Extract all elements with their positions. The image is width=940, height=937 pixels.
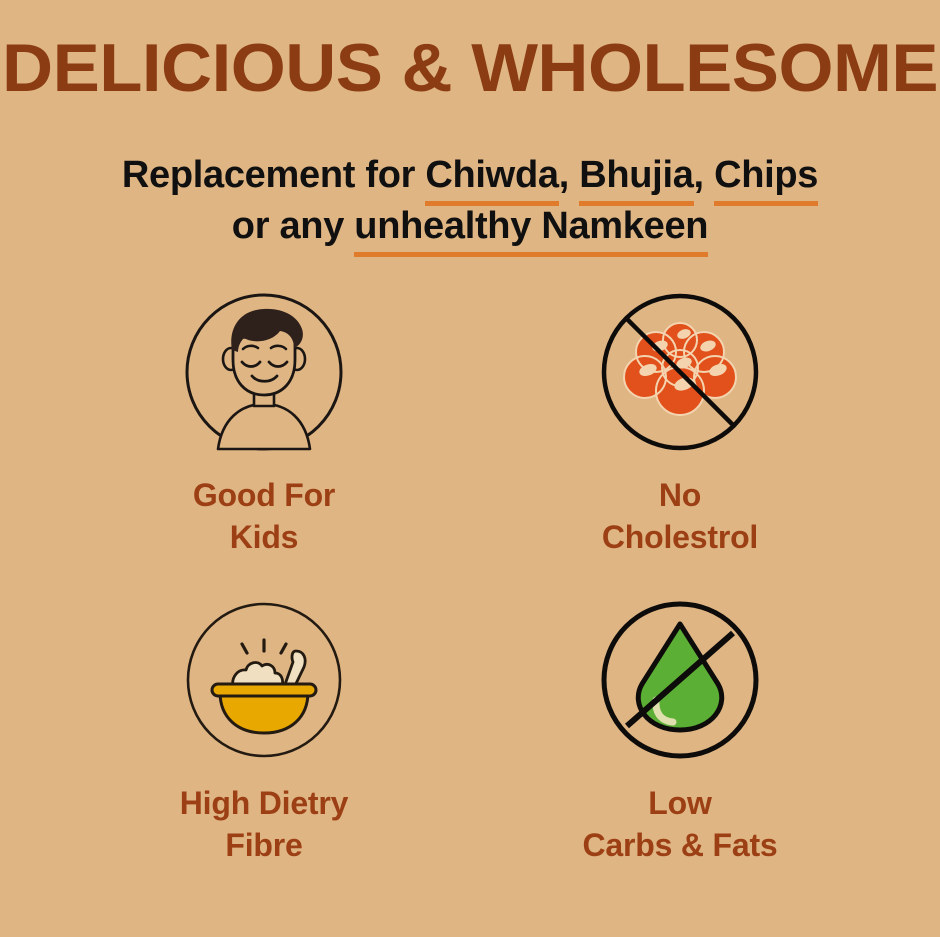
kid-face-icon bbox=[184, 292, 344, 452]
subtitle-separator-1: , bbox=[559, 154, 580, 196]
feature-label-line-1: High Dietry bbox=[180, 785, 349, 821]
subtitle-highlight-bhujia: Bhujia bbox=[579, 150, 693, 201]
feature-label-line-1: Low bbox=[648, 785, 711, 821]
feature-grid: Good For Kids bbox=[0, 292, 940, 866]
food-bowl-icon bbox=[184, 600, 344, 760]
subtitle: Replacement for Chiwda, Bhujia, Chips or… bbox=[0, 150, 940, 252]
feature-label-good-for-kids: Good For Kids bbox=[193, 474, 335, 558]
feature-item-low-carbs-fats: Low Carbs & Fats bbox=[470, 600, 940, 866]
subtitle-highlight-namkeen: unhealthy Namkeen bbox=[354, 201, 708, 252]
feature-label-line-1: No bbox=[659, 477, 701, 513]
feature-label-line-2: Kids bbox=[193, 516, 335, 558]
no-fat-droplet-icon bbox=[600, 600, 760, 760]
no-cholesterol-icon bbox=[600, 292, 760, 452]
feature-label-line-2: Cholestrol bbox=[602, 516, 758, 558]
feature-label-low-carbs-fats: Low Carbs & Fats bbox=[583, 782, 778, 866]
subtitle-prefix: Replacement for bbox=[122, 154, 426, 196]
subtitle-prefix-2: or any bbox=[232, 205, 355, 247]
subtitle-highlight-chips: Chips bbox=[714, 150, 818, 201]
subtitle-highlight-chiwda: Chiwda bbox=[425, 150, 558, 201]
feature-item-no-cholesterol: No Cholestrol bbox=[470, 292, 940, 558]
feature-item-high-dietary-fibre: High Dietry Fibre bbox=[0, 600, 470, 866]
subtitle-line-1: Replacement for Chiwda, Bhujia, Chips bbox=[0, 150, 940, 201]
feature-label-high-dietary-fibre: High Dietry Fibre bbox=[180, 782, 349, 866]
feature-label-no-cholesterol: No Cholestrol bbox=[602, 474, 758, 558]
feature-label-line-2: Fibre bbox=[180, 824, 349, 866]
feature-label-line-2: Carbs & Fats bbox=[583, 824, 778, 866]
feature-label-line-1: Good For bbox=[193, 477, 335, 513]
promo-poster: DELICIOUS & WHOLESOME Replacement for Ch… bbox=[0, 0, 940, 937]
subtitle-line-2: or any unhealthy Namkeen bbox=[0, 201, 940, 252]
feature-item-good-for-kids: Good For Kids bbox=[0, 292, 470, 558]
page-title: DELICIOUS & WHOLESOME bbox=[0, 30, 940, 106]
subtitle-separator-2: , bbox=[694, 154, 715, 196]
